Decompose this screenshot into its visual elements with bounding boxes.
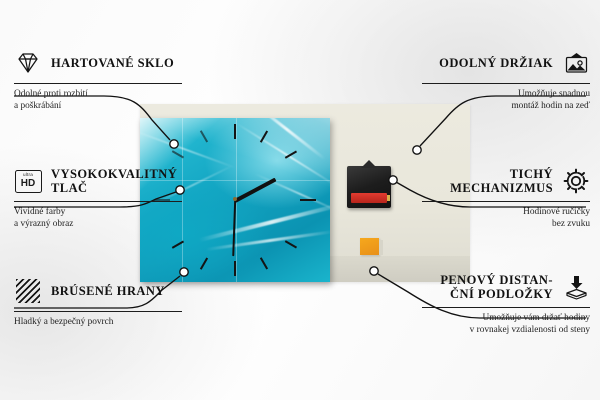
glass-reflection bbox=[182, 118, 183, 282]
feature-description: Umožňuje snadnou montáž hodin na zeď bbox=[422, 88, 590, 113]
feature-tempered-glass: HARTOVANÉ SKLO Odolné proti rozbití a po… bbox=[14, 48, 182, 113]
hd-badge: ultra HD bbox=[15, 170, 42, 193]
feature-header: PENOVÝ DISTAN- ČNÍ PODLOŽKY bbox=[422, 272, 590, 302]
stripe-pattern bbox=[16, 279, 40, 303]
feature-divider bbox=[14, 311, 182, 312]
clock-tick bbox=[260, 257, 268, 269]
ultra-hd-icon: ultra HD bbox=[14, 167, 42, 195]
foam-spacer-pad bbox=[360, 238, 379, 255]
feature-description: Odolné proti rozbití a poškrábání bbox=[14, 88, 182, 113]
clock-center-pin bbox=[233, 197, 237, 201]
feature-description: Hladký a bezpečný povrch bbox=[14, 316, 182, 328]
feature-polished-edges: BRÚSENÉ HRANY Hladký a bezpečný povrch bbox=[14, 276, 182, 328]
clock-mechanism bbox=[347, 166, 391, 208]
feature-description: Hodinové ručičky bez zvuku bbox=[422, 206, 590, 231]
feature-divider bbox=[422, 201, 590, 202]
feather-streak bbox=[140, 129, 236, 169]
product-photo bbox=[140, 104, 470, 282]
feature-description: Umožňuje vám držať hodiny v rovnakej vzd… bbox=[422, 312, 590, 337]
feature-divider bbox=[422, 83, 590, 84]
feature-header: HARTOVANÉ SKLO bbox=[14, 48, 182, 78]
feature-header: ODOLNÝ DRŽIAK bbox=[422, 48, 590, 78]
clock-tick bbox=[200, 130, 208, 142]
feature-title: HARTOVANÉ SKLO bbox=[51, 56, 174, 70]
clock-tick bbox=[200, 257, 208, 269]
feature-hq-print: ultra HD VYSOKOKVALITNÝ TLAČ Vividné far… bbox=[14, 166, 182, 231]
gear-icon bbox=[562, 167, 590, 195]
feature-foam-spacers: PENOVÝ DISTAN- ČNÍ PODLOŽKY Umožňuje vám… bbox=[422, 272, 590, 337]
clock-tick bbox=[234, 261, 236, 276]
feature-title: PENOVÝ DISTAN- ČNÍ PODLOŽKY bbox=[422, 273, 553, 301]
feature-divider bbox=[14, 201, 182, 202]
clock-tick bbox=[300, 199, 316, 201]
feature-description: Vividné farby a výrazný obraz bbox=[14, 206, 182, 231]
feature-title: TICHÝ MECHANIZMUS bbox=[422, 167, 553, 195]
feature-title: BRÚSENÉ HRANY bbox=[51, 284, 165, 298]
feature-title: ODOLNÝ DRŽIAK bbox=[439, 56, 553, 70]
hour-hand bbox=[234, 178, 277, 203]
foam-spacer-icon bbox=[562, 273, 590, 301]
mechanism-mount bbox=[361, 160, 377, 168]
feature-silent-mechanism: TICHÝ MECHANIZMUS Hodinové ručičky bez z… bbox=[422, 166, 590, 231]
feature-header: ultra HD VYSOKOKVALITNÝ TLAČ bbox=[14, 166, 182, 196]
feature-divider bbox=[14, 83, 182, 84]
battery bbox=[351, 193, 387, 203]
feature-header: TICHÝ MECHANIZMUS bbox=[422, 166, 590, 196]
feature-header: BRÚSENÉ HRANY bbox=[14, 276, 182, 306]
hd-main-label: HD bbox=[21, 179, 35, 189]
feature-divider bbox=[422, 307, 590, 308]
feather-streak bbox=[236, 122, 330, 187]
feature-title: VYSOKOKVALITNÝ TLAČ bbox=[51, 167, 182, 195]
feature-durable-holder: ODOLNÝ DRŽIAK Umožňuje snadnou montáž ho… bbox=[422, 48, 590, 113]
infographic-canvas: HARTOVANÉ SKLO Odolné proti rozbití a po… bbox=[0, 0, 600, 400]
brushed-edge-icon bbox=[14, 277, 42, 305]
picture-hanger-icon bbox=[562, 49, 590, 77]
clock-tick bbox=[234, 124, 236, 139]
diamond-icon bbox=[14, 49, 42, 77]
clock-tick bbox=[285, 241, 297, 249]
